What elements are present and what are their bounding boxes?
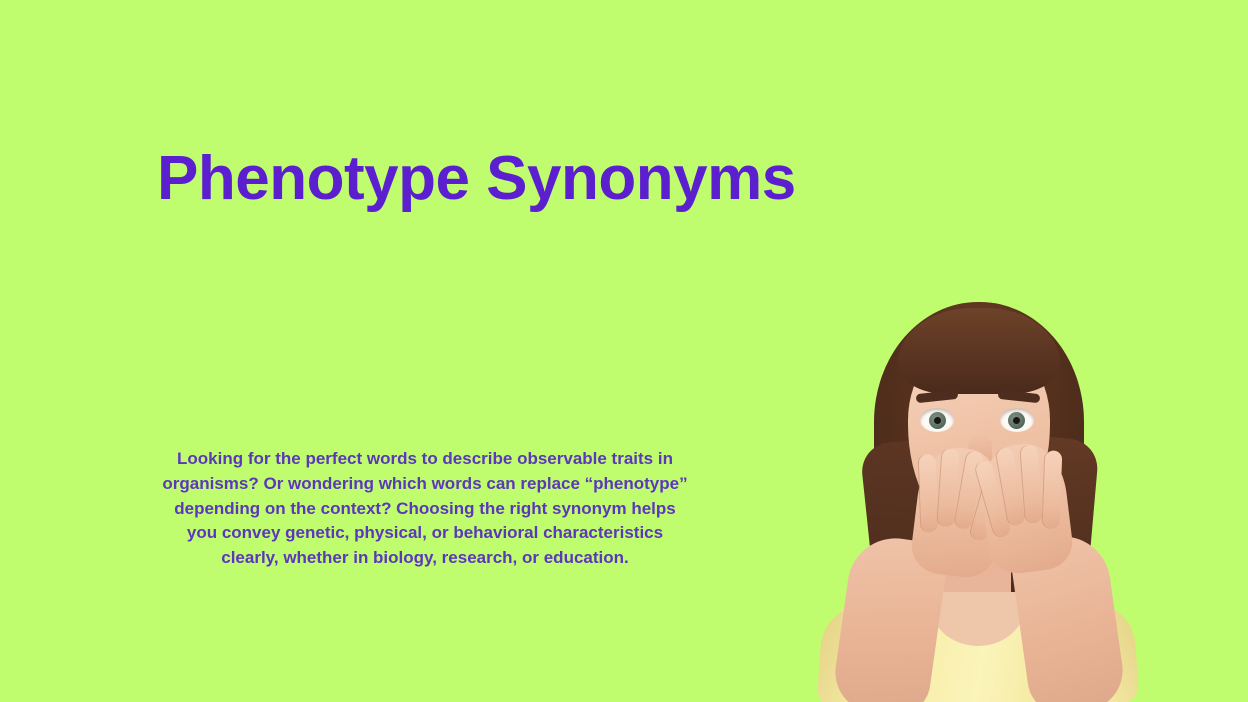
slide-canvas: Phenotype Synonyms Looking for the perfe… bbox=[0, 0, 1248, 702]
pupil-right bbox=[1013, 417, 1020, 424]
text-column: Phenotype Synonyms Looking for the perfe… bbox=[157, 0, 697, 702]
slide-body-paragraph: Looking for the perfect words to describ… bbox=[161, 447, 689, 571]
page-title: Phenotype Synonyms bbox=[157, 143, 697, 215]
hand-right bbox=[977, 439, 1076, 576]
finger bbox=[919, 454, 939, 533]
photo-figure bbox=[812, 292, 1142, 702]
surprised-woman-photo bbox=[812, 292, 1142, 702]
pupil-left bbox=[934, 417, 941, 424]
finger bbox=[1043, 450, 1063, 529]
